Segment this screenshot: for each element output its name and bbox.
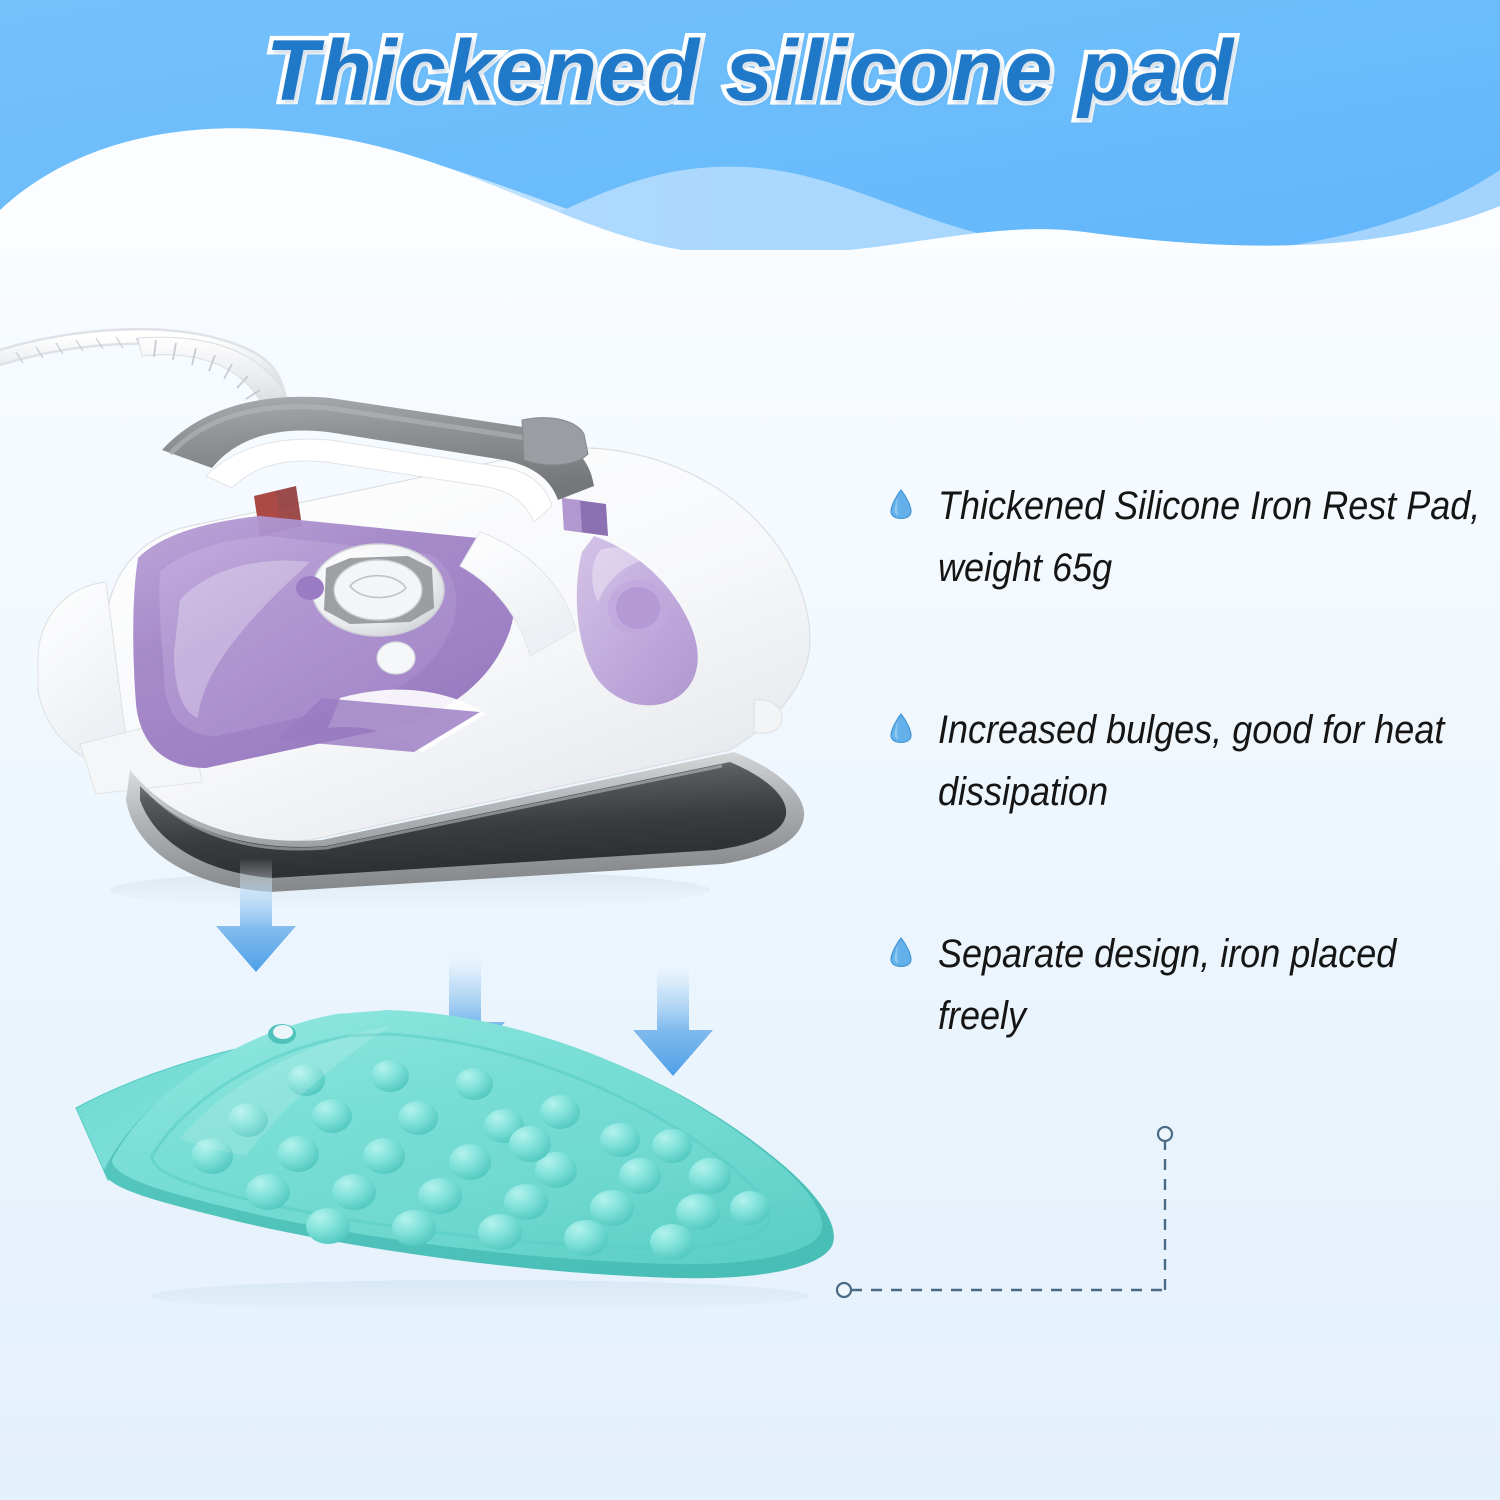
iron-drop-bullet-icon (890, 713, 912, 743)
iron-drop-bullet-icon (890, 489, 912, 519)
temperature-dial[interactable] (312, 544, 444, 636)
feature-text-3: Separate design, iron placed freely (938, 923, 1489, 1047)
spray-button[interactable] (377, 642, 415, 674)
page-title: Thickened silicone pad (0, 22, 1500, 121)
feature-text-1: Thickened Silicone Iron Rest Pad, weight… (938, 475, 1489, 599)
steam-selector-knob[interactable] (562, 498, 582, 532)
iron-drop-bullet-icon (890, 937, 912, 967)
pad-shadow (150, 1280, 810, 1312)
front-window-cap-inner (616, 587, 660, 629)
feature-text-2: Increased bulges, good for heat dissipat… (938, 699, 1489, 823)
feature-item-3: Separate design, iron placed freely (890, 923, 1490, 1047)
header-banner: Thickened silicone pad (0, 0, 1500, 250)
steam-iron-image (10, 300, 850, 920)
silicone-pad-image (60, 960, 910, 1320)
steam-burst-button[interactable] (522, 418, 588, 465)
pad-hang-hole (268, 1024, 296, 1044)
feature-list: Thickened Silicone Iron Rest Pad, weight… (890, 475, 1490, 1147)
tank-nub (296, 576, 324, 600)
infographic-page: Thickened silicone pad (0, 0, 1500, 1500)
feature-item-1: Thickened Silicone Iron Rest Pad, weight… (890, 475, 1490, 599)
feature-item-2: Increased bulges, good for heat dissipat… (890, 699, 1490, 823)
dimension-endpoint-left (837, 1283, 851, 1297)
